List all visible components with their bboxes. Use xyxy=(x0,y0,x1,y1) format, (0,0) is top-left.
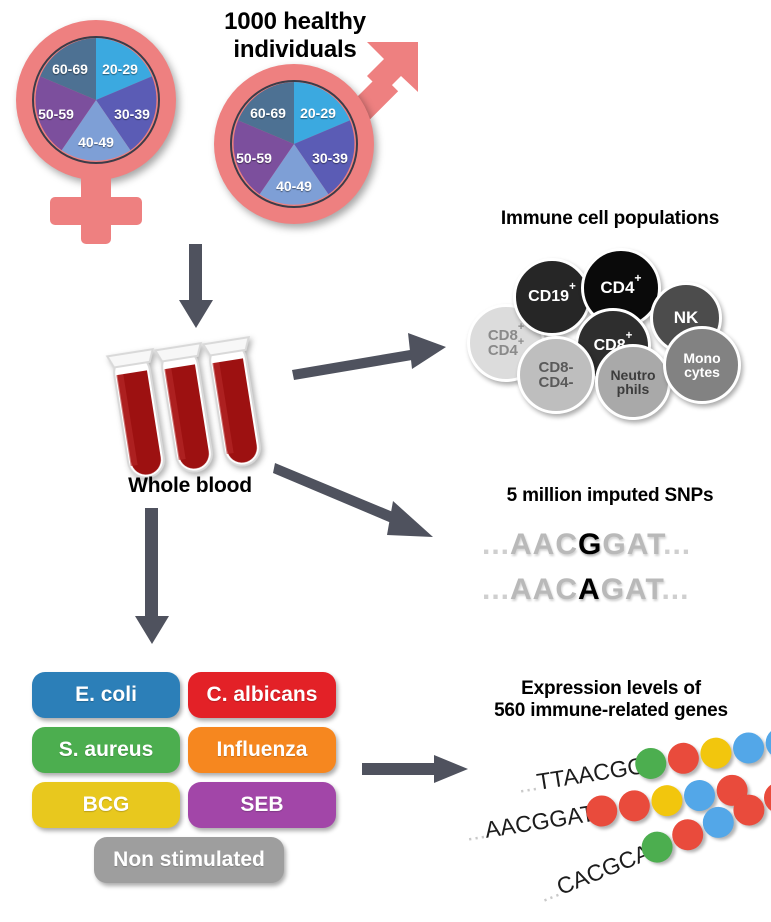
expression-strands: ...TTAACGG ...AACGGAT ...CACGCAA xyxy=(440,735,771,915)
immune-cell-cluster: CD8+CD4+ CD19+ CD4+ NK CD8+ CD8-CD4- Neu… xyxy=(455,240,771,420)
stimulus-influenza[interactable]: Influenza xyxy=(188,727,336,773)
snp-prefix: AAC xyxy=(510,573,578,606)
arrow-blood-to-immune-cells xyxy=(290,325,450,380)
arrow-individuals-to-blood xyxy=(176,244,216,330)
snp-suffix: GAT xyxy=(602,528,663,561)
expression-title-line2: 560 immune-related genes xyxy=(455,700,767,722)
snp-lead-dots: ... xyxy=(482,573,510,606)
stimulus-e-coli[interactable]: E. coli xyxy=(32,672,180,718)
expression-bead xyxy=(666,741,701,776)
snp-sequence-row-2: ...AACAGAT... xyxy=(482,573,689,607)
strand-bases: TTAACGG xyxy=(535,752,647,795)
figure-canvas: 1000 healthy individuals 20-29 30-39 40-… xyxy=(0,0,771,922)
expression-title-line1: Expression levels of xyxy=(455,678,767,700)
snp-suffix: GAT xyxy=(601,573,662,606)
male-pie-label-50-59: 50-59 xyxy=(236,150,272,166)
female-pie-label-60-69: 60-69 xyxy=(52,61,88,77)
immune-cell-neutrophils[interactable]: Neutrophils xyxy=(595,344,671,420)
male-pie-label-40-49: 40-49 xyxy=(276,178,312,194)
stimulus-label: BCG xyxy=(83,793,130,817)
cohort-title-line1: 1000 healthy xyxy=(180,8,410,36)
stimulus-bcg[interactable]: BCG xyxy=(32,782,180,828)
female-pie-label-20-29: 20-29 xyxy=(102,61,138,77)
male-symbol: 20-29 30-39 40-49 50-59 60-69 xyxy=(208,48,428,238)
male-pie-label-30-39: 30-39 xyxy=(312,150,348,166)
immune-cell-cd19p[interactable]: CD19+ xyxy=(513,258,591,336)
stimulus-label: SEB xyxy=(240,793,283,817)
stimulus-s-aureus[interactable]: S. aureus xyxy=(32,727,180,773)
whole-blood-group xyxy=(105,330,285,490)
strand-bases: AACGGAT xyxy=(483,800,596,843)
stimulation-panel: E. coli C. albicans S. aureus Influenza … xyxy=(32,672,352,902)
female-crossbar xyxy=(50,197,142,225)
immune-cell-label: CD8-CD4- xyxy=(538,360,573,391)
immune-cell-cd8n-cd4n[interactable]: CD8-CD4- xyxy=(517,336,595,414)
snp-trail-dots: ... xyxy=(661,573,689,606)
female-symbol: 20-29 30-39 40-49 50-59 60-69 xyxy=(8,14,198,244)
snp-variant-allele: A xyxy=(578,573,601,606)
snp-lead-dots: ... xyxy=(482,528,510,561)
expression-bead xyxy=(649,783,684,818)
immune-cell-monocytes[interactable]: Monocytes xyxy=(663,326,741,404)
stimulus-seb[interactable]: SEB xyxy=(188,782,336,828)
stimulus-c-albicans[interactable]: C. albicans xyxy=(188,672,336,718)
snp-trail-dots: ... xyxy=(663,528,691,561)
male-pie-label-20-29: 20-29 xyxy=(300,105,336,121)
strand-sequence-2: ...AACGGAT xyxy=(464,800,597,847)
arrow-blood-to-snps xyxy=(273,455,438,545)
stimulus-label: C. albicans xyxy=(207,683,318,707)
expression-bead xyxy=(763,725,771,760)
expression-bead xyxy=(698,735,733,770)
snp-sequence-row-1: ...AACGGAT... xyxy=(482,528,691,562)
snp-panel-title: 5 million imputed SNPs xyxy=(450,485,770,507)
immune-cell-label: NK xyxy=(674,309,699,326)
immune-panel-title: Immune cell populations xyxy=(455,208,765,230)
male-pie-label-60-69: 60-69 xyxy=(250,105,286,121)
expression-bead xyxy=(731,730,766,765)
stimulus-label: Influenza xyxy=(216,738,307,762)
snp-variant-allele: G xyxy=(578,528,602,561)
female-pie-label-30-39: 30-39 xyxy=(114,106,150,122)
female-pie-label-40-49: 40-49 xyxy=(78,134,114,150)
stimulus-label: Non stimulated xyxy=(113,848,265,872)
female-pie-label-50-59: 50-59 xyxy=(38,106,74,122)
immune-cell-label: Neutrophils xyxy=(610,368,655,397)
snp-prefix: AAC xyxy=(510,528,578,561)
arrow-blood-to-stimulations xyxy=(130,508,174,646)
stimulus-non-stimulated[interactable]: Non stimulated xyxy=(94,837,284,883)
immune-cell-label: CD19+ xyxy=(528,289,576,305)
immune-cell-label: CD4+ xyxy=(600,279,641,296)
stimulus-label: E. coli xyxy=(75,683,137,707)
immune-cell-label: Monocytes xyxy=(683,351,720,380)
expression-bead xyxy=(617,788,652,823)
expression-panel-title: Expression levels of 560 immune-related … xyxy=(455,678,767,722)
snp-sequences: ...AACGGAT... ...AACAGAT... xyxy=(482,528,742,618)
stimulus-label: S. aureus xyxy=(59,738,154,762)
immune-cell-label: CD8+CD4+ xyxy=(488,328,524,359)
whole-blood-label: Whole blood xyxy=(80,474,300,498)
